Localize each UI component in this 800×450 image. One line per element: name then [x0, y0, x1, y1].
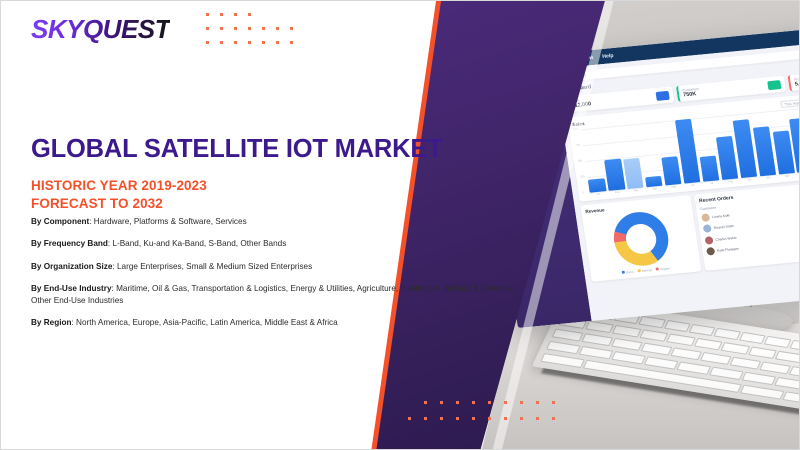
segment-value: : North America, Europe, Asia-Pacific, L… [72, 318, 338, 327]
dot-pattern-top [206, 13, 304, 55]
dot [234, 41, 237, 44]
bar[interactable] [699, 155, 719, 182]
poster-root: File Edit View Go Window Help ▼ 100% WEB… [0, 0, 800, 450]
dot [440, 417, 443, 420]
chart-icon [655, 90, 669, 100]
order-customer: Katie Flanagan [717, 247, 739, 253]
dot [456, 417, 459, 420]
segment-frequency-band: By Frequency Band: L-Band, Ku-and Ka-Ban… [31, 238, 521, 250]
y-tick-label: 600 [575, 144, 580, 147]
dot [472, 417, 475, 420]
segment-value: : Large Enterprises, Small & Medium Size… [112, 262, 312, 271]
legend-item: Direct [621, 270, 633, 275]
dot [276, 27, 279, 30]
order-customer: Ricardo Smith [713, 224, 734, 230]
subtitle-forecast: FORECAST TO 2032 [31, 195, 207, 213]
dot [206, 27, 209, 30]
legend-item: Organic [655, 266, 670, 271]
donut-title: Revenue [585, 207, 605, 214]
dot [206, 41, 209, 44]
logo-text: SKYQUEST [31, 14, 170, 45]
dot [220, 27, 223, 30]
stat-value: 750K [683, 91, 700, 99]
segment-end-use-industry: By End-Use Industry: Maritime, Oil & Gas… [31, 283, 521, 307]
dot [248, 41, 251, 44]
dot [248, 13, 251, 16]
y-tick-label: 200 [580, 175, 585, 178]
donut-legend: Direct Referral Organic [595, 264, 697, 278]
bar[interactable] [645, 175, 663, 187]
dot [220, 13, 223, 16]
sales-chart-panel: Sales This Year 8006004002000 JanFebMarA… [567, 95, 800, 202]
avatar [706, 247, 715, 256]
segment-value: : Hardware, Platforms & Software, Servic… [89, 217, 246, 226]
avatar [704, 236, 713, 245]
segment-label: By End-Use Industry [31, 284, 112, 293]
bar[interactable] [588, 178, 606, 193]
dot [234, 13, 237, 16]
dot [262, 41, 265, 44]
dot [456, 401, 459, 404]
dot [276, 41, 279, 44]
bar[interactable] [623, 158, 644, 189]
dot [536, 417, 539, 420]
order-customer: Lorena Kulik [712, 213, 730, 219]
dot [520, 417, 523, 420]
segment-region: By Region: North America, Europe, Asia-P… [31, 317, 521, 329]
y-tick-label: 800 [573, 128, 578, 131]
dot [220, 41, 223, 44]
dot [552, 401, 555, 404]
dashboard-main: Search Dashboard Sales $12,000 [554, 36, 800, 321]
chart-range-selector[interactable]: This Year [780, 99, 800, 108]
avatar [701, 213, 710, 222]
segment-label: By Region [31, 318, 72, 327]
segment-organization-size: By Organization Size: Large Enterprises,… [31, 261, 521, 273]
revenue-donut-panel: Revenue Direct Referral Organic [581, 195, 702, 282]
dot [552, 417, 555, 420]
dot [234, 27, 237, 30]
avatar [703, 224, 712, 233]
order-customer: Charles Weber [715, 235, 737, 241]
dot [536, 401, 539, 404]
logo[interactable]: SKYQUEST [31, 14, 170, 45]
dot [408, 417, 411, 420]
segment-list: By Component: Hardware, Platforms & Soft… [31, 216, 521, 340]
y-tick-label: 0 [582, 191, 584, 194]
dot [206, 13, 209, 16]
legend-item: Referral [637, 268, 652, 273]
bar[interactable] [661, 156, 682, 186]
dot [488, 417, 491, 420]
dot [290, 27, 293, 30]
dot [504, 417, 507, 420]
chart-title: Sales [572, 121, 585, 127]
donut-chart [610, 210, 672, 269]
segment-label: By Component [31, 217, 89, 226]
dot [424, 417, 427, 420]
dot [520, 401, 523, 404]
segment-value: : L-Band, Ku-and Ka-Band, S-Band, Other … [108, 239, 286, 248]
dot [440, 401, 443, 404]
users-icon [767, 80, 781, 90]
segment-label: By Organization Size [31, 262, 112, 271]
page-title: GLOBAL SATELLITE IOT MARKET [31, 136, 443, 164]
dot-pattern-bottom [408, 401, 568, 433]
y-tick-label: 400 [578, 159, 583, 162]
dot [472, 401, 475, 404]
dot [262, 27, 265, 30]
dot [248, 27, 251, 30]
segment-component: By Component: Hardware, Platforms & Soft… [31, 216, 521, 228]
bar[interactable] [604, 158, 625, 190]
subtitle: HISTORIC YEAR 2019-2023 FORECAST TO 2032 [31, 177, 207, 213]
stat-value: 5.52K [795, 80, 800, 87]
dot [424, 401, 427, 404]
dot [290, 41, 293, 44]
dot [504, 401, 507, 404]
subtitle-historic: HISTORIC YEAR 2019-2023 [31, 177, 207, 195]
menu-help[interactable]: Help [602, 53, 614, 60]
dot [488, 401, 491, 404]
segment-label: By Frequency Band [31, 239, 108, 248]
